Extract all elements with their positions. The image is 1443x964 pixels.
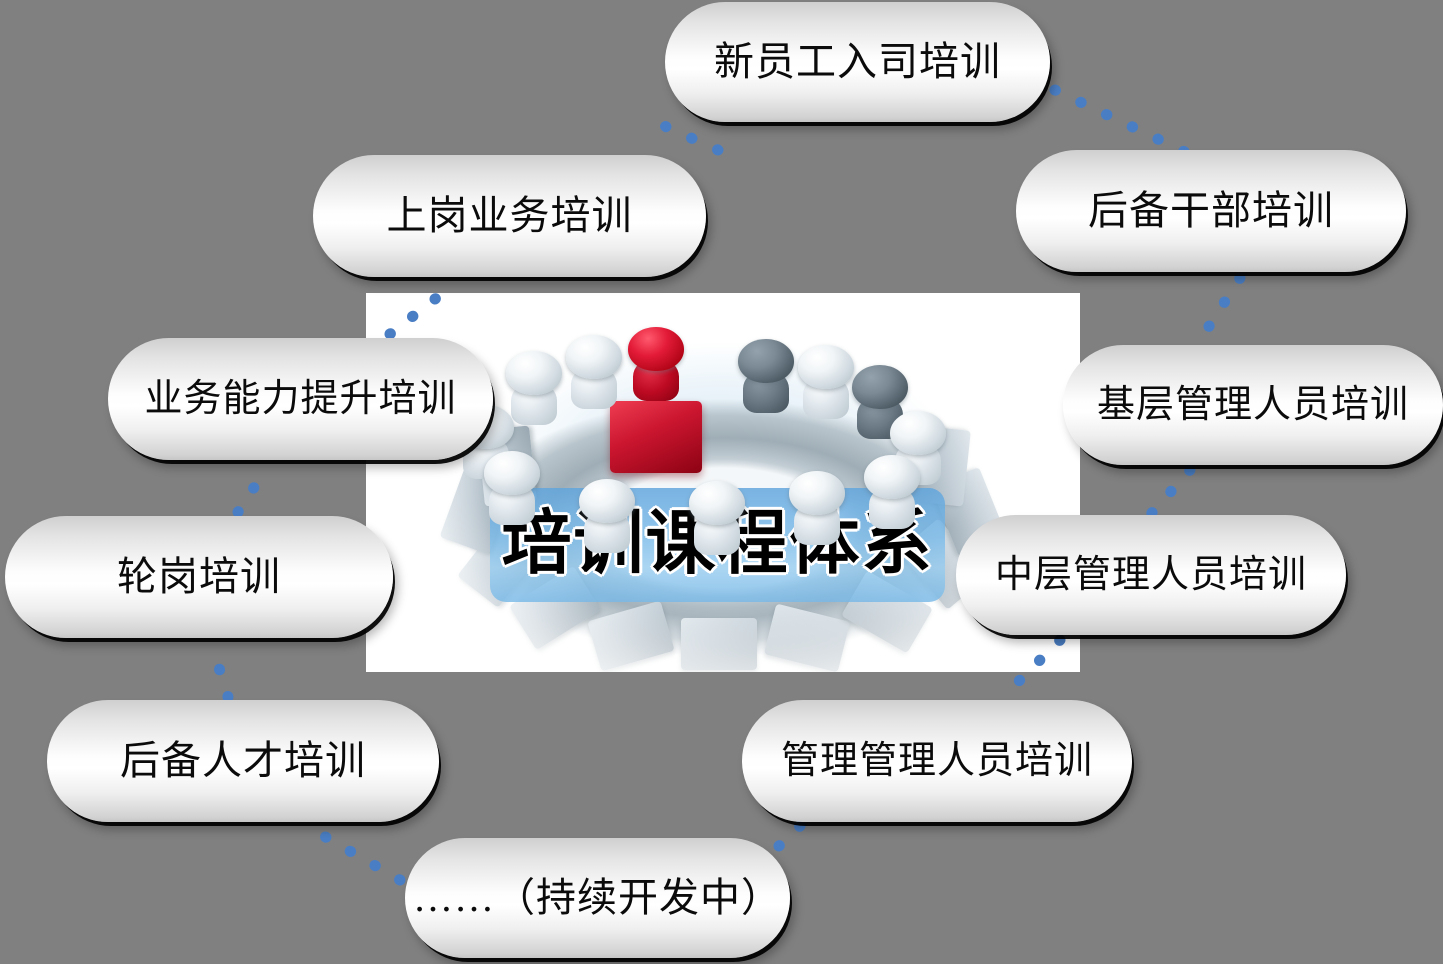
figure (484, 451, 540, 527)
node-new-hire[interactable]: 新员工入司培训 (665, 2, 1050, 122)
node-label: 上岗业务培训 (387, 196, 633, 236)
node-label: 中层管理人员培训 (995, 556, 1307, 594)
figure (686, 481, 748, 563)
node-label: 后备人才培训 (120, 741, 366, 781)
connector-more (310, 828, 400, 880)
connector-frontline-mgr (1150, 470, 1190, 515)
connector-onboard-biz (660, 124, 718, 150)
node-skill-up[interactable]: 业务能力提升培训 (108, 338, 493, 460)
node-label: 后备干部培训 (1088, 191, 1334, 231)
diagram-canvas: 新员工入司培训 上岗业务培训 后备干部培训 业务能力提升培训 基层管理人员培训 … (0, 0, 1443, 964)
node-rotation[interactable]: 轮岗培训 (5, 516, 393, 638)
node-frontline-mgr[interactable]: 基层管理人员培训 (1063, 345, 1443, 465)
connector-reserve-talent (212, 645, 228, 697)
connector-new-hire (1055, 90, 1185, 152)
figure (566, 335, 622, 411)
figure (788, 471, 846, 549)
node-label: 业务能力提升培训 (144, 380, 456, 418)
figure (506, 351, 562, 427)
node-more[interactable]: ……（持续开发中） (405, 838, 790, 958)
figure (576, 479, 638, 561)
figure-red (623, 327, 689, 413)
figure-dark (738, 339, 794, 415)
connector-reserve-cadre (1197, 278, 1240, 345)
node-reserve-cadre[interactable]: 后备干部培训 (1016, 150, 1406, 272)
node-label: 新员工入司培训 (714, 42, 1001, 82)
node-label: ……（持续开发中） (413, 878, 782, 918)
node-label: 轮岗培训 (117, 557, 281, 597)
node-onboard-biz[interactable]: 上岗业务培训 (313, 155, 706, 277)
node-senior-mgr[interactable]: 管理管理人员培训 (742, 700, 1132, 822)
node-reserve-talent[interactable]: 后备人才培训 (47, 700, 439, 822)
figure (798, 345, 854, 421)
node-label: 管理管理人员培训 (781, 742, 1093, 780)
node-label: 基层管理人员培训 (1097, 386, 1409, 424)
connector-rotation (238, 466, 268, 512)
node-middle-mgr[interactable]: 中层管理人员培训 (956, 515, 1346, 635)
figure (864, 455, 920, 531)
